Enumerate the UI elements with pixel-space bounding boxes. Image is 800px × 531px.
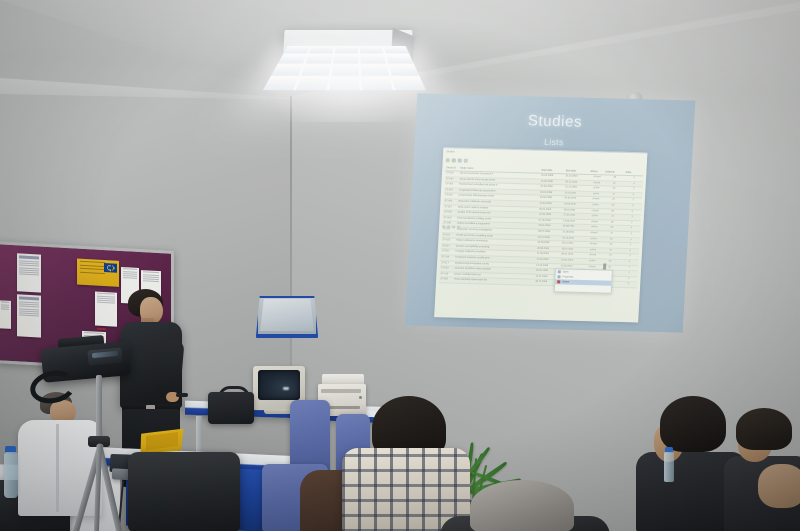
table-cell: active bbox=[587, 203, 602, 208]
table-cell: 15.02.2009 bbox=[540, 179, 565, 184]
table-cell: 3 bbox=[624, 176, 643, 181]
notice-sheet bbox=[17, 253, 41, 292]
table-cell: ST-001 bbox=[445, 171, 459, 176]
table-cell: 23.06.2009 bbox=[537, 224, 562, 229]
table-cell: 20.04.2009 bbox=[538, 202, 563, 207]
app-toolbar bbox=[446, 157, 486, 163]
edit-icon bbox=[452, 158, 456, 162]
table-cell: active bbox=[588, 192, 603, 197]
table-cell: 4 bbox=[624, 181, 643, 186]
room-scene: Studies Lists Studies Study IDStudy name… bbox=[0, 0, 800, 531]
table-cell: 3 bbox=[620, 254, 639, 259]
table-cell: closed bbox=[586, 220, 601, 225]
table-cell: 5 bbox=[620, 249, 639, 254]
table-cell: 18.12.2011 bbox=[560, 247, 585, 252]
light-louvre-cell bbox=[283, 46, 310, 54]
menu-item-icon bbox=[557, 280, 560, 283]
table-cell: 54 bbox=[602, 203, 623, 208]
table-cell: 29 bbox=[602, 198, 623, 203]
pager-last-icon bbox=[457, 226, 460, 229]
cabinet-base-rail bbox=[256, 334, 318, 338]
table-cell: 02.08.2011 bbox=[562, 225, 587, 230]
printer-status-led bbox=[359, 396, 362, 399]
table-cell: 35 bbox=[603, 187, 624, 192]
table-cell: ST-005 bbox=[444, 194, 458, 199]
monitor-screen bbox=[258, 370, 300, 400]
table-cell: 02.02.2011 bbox=[563, 197, 588, 202]
table-cell: 44 bbox=[599, 254, 620, 259]
light-louvre-cell bbox=[383, 46, 409, 54]
eu-programme-poster bbox=[77, 259, 119, 287]
slide-title: Studies bbox=[416, 109, 695, 133]
table-cell: 2 bbox=[623, 198, 642, 203]
attendee-torso bbox=[18, 420, 102, 516]
light-louvre-grid bbox=[263, 46, 426, 90]
shirt-placket bbox=[56, 424, 59, 512]
table-cell: closed bbox=[589, 181, 604, 186]
table-cell: 7 bbox=[619, 265, 638, 270]
attendee-hair bbox=[736, 408, 792, 450]
table-cell: 4 bbox=[621, 226, 640, 231]
eu-flag-icon bbox=[104, 263, 117, 273]
tripod-column bbox=[96, 375, 102, 441]
table-cell: ST-007 bbox=[443, 205, 457, 210]
table-cell: 04.04.2009 bbox=[539, 196, 564, 201]
table-cell: 08.04.2011 bbox=[563, 208, 588, 213]
table-cell: 29.11.2011 bbox=[561, 241, 586, 246]
table-cell: active bbox=[586, 236, 601, 241]
table-cell: ST-017 bbox=[440, 261, 454, 266]
table-cell: 26.08.2009 bbox=[536, 246, 561, 251]
table-cell: 18.03.2009 bbox=[539, 190, 564, 195]
table-cell: 21.12.2010 bbox=[564, 186, 589, 191]
context-menu: OpenPropertiesDelete bbox=[554, 268, 613, 294]
table-cell: 22.05.2009 bbox=[538, 213, 563, 218]
table-cell: ST-008 bbox=[443, 210, 457, 215]
table-column-header: Status bbox=[589, 169, 604, 174]
cabinet-glass bbox=[260, 299, 314, 331]
water-bottle-left bbox=[4, 452, 18, 498]
notice-sheet bbox=[95, 292, 117, 327]
table-cell: active bbox=[588, 186, 603, 191]
filter-icon bbox=[458, 158, 462, 162]
light-louvre-cell bbox=[360, 55, 386, 64]
pager-first-icon bbox=[442, 225, 445, 228]
table-cell: ST-015 bbox=[441, 250, 455, 255]
table-column-header: End date bbox=[565, 168, 590, 174]
table-cell: ST-020 bbox=[439, 277, 453, 282]
light-louvre-cell bbox=[388, 65, 419, 76]
light-louvre-cell bbox=[331, 65, 359, 76]
table-cell: 30.11.2010 bbox=[564, 180, 589, 185]
light-louvre-cell bbox=[334, 46, 358, 54]
table-cell: 5 bbox=[618, 282, 637, 287]
table-cell: ST-002 bbox=[445, 177, 459, 182]
table-cell: 33 bbox=[600, 242, 621, 247]
context-menu-item: Delete bbox=[555, 279, 611, 285]
table-cell: 27.09.2009 bbox=[535, 258, 560, 263]
attendee-hair bbox=[660, 396, 726, 452]
light-louvre-cell bbox=[359, 46, 383, 54]
table-cell: 38 bbox=[601, 220, 622, 225]
red-marker-strip bbox=[97, 328, 106, 330]
table-cell: 19.03.2011 bbox=[563, 202, 588, 207]
table-cell: closed bbox=[585, 253, 600, 258]
table-cell: closed bbox=[587, 209, 602, 214]
table-cell: 27.05.2011 bbox=[562, 213, 587, 218]
table-cell: 52 bbox=[600, 237, 621, 242]
mouse-cursor-icon bbox=[603, 263, 606, 269]
chair-backrest bbox=[290, 400, 330, 474]
table-cell: 3 bbox=[623, 204, 642, 209]
export-icon bbox=[464, 158, 468, 162]
light-louvre-cell bbox=[271, 65, 303, 76]
table-cell: ST-006 bbox=[443, 199, 457, 204]
table-cell: 14.01.2011 bbox=[564, 191, 589, 196]
table-cell: 06.01.2012 bbox=[560, 253, 585, 258]
table-cell: 2 bbox=[624, 187, 643, 192]
menu-item-icon bbox=[557, 275, 560, 278]
projection-screen: Studies Lists Studies Study IDStudy name… bbox=[405, 93, 696, 332]
table-cell: 2 bbox=[621, 243, 640, 248]
table-cell: ST-009 bbox=[442, 216, 456, 221]
table-cell: 41 bbox=[602, 215, 623, 220]
add-icon bbox=[446, 158, 450, 162]
table-column-header: Study ID bbox=[445, 165, 459, 170]
table-cell: 58 bbox=[599, 259, 620, 264]
table-cell: ST-012 bbox=[442, 233, 456, 238]
table-cell: 06.05.2009 bbox=[538, 207, 563, 212]
ceiling-light-fixture bbox=[281, 30, 412, 90]
light-louvre-cell bbox=[361, 77, 393, 90]
light-louvre-cell bbox=[386, 55, 414, 64]
light-louvre-cell bbox=[361, 65, 390, 76]
table-cell: ST-003 bbox=[444, 182, 458, 187]
table-cell: 01.02.2009 bbox=[540, 174, 565, 179]
chair-black-front-left bbox=[128, 452, 240, 531]
table-cell: 3 bbox=[621, 232, 640, 237]
table-cell: 31.10.2010 bbox=[564, 174, 589, 179]
table-cell: 25.07.2009 bbox=[537, 235, 562, 240]
table-cell: 13.06.2011 bbox=[562, 219, 587, 224]
table-cell: 09.07.2009 bbox=[537, 230, 562, 235]
light-louvre-cell bbox=[301, 65, 331, 76]
table-cell: 10.08.2009 bbox=[536, 241, 561, 246]
table-cell: 3 bbox=[619, 277, 638, 282]
table-cell: active bbox=[584, 259, 599, 264]
eu-star bbox=[112, 270, 113, 271]
pager-prev-icon bbox=[447, 225, 450, 228]
table-cell: 6 bbox=[622, 209, 641, 214]
table-column-header: Sites bbox=[625, 170, 644, 175]
table-cell: 21.09.2011 bbox=[561, 230, 586, 235]
shoulder-bag bbox=[208, 392, 254, 424]
table-cell: 71 bbox=[603, 192, 624, 197]
light-louvre-cell bbox=[305, 55, 332, 64]
printer-paper-tray bbox=[321, 389, 361, 393]
water-bottle-right bbox=[664, 452, 674, 482]
table-cell: 07.06.2009 bbox=[537, 218, 562, 223]
table-column-header: Subjects bbox=[604, 169, 625, 175]
table-cell: closed bbox=[588, 197, 603, 202]
table-cell: 48 bbox=[604, 175, 625, 180]
attendee-right-3-head bbox=[758, 464, 800, 508]
table-cell: Post-marketing observation list bbox=[453, 278, 535, 285]
notice-sheet bbox=[0, 300, 11, 329]
app-window-label: Studies bbox=[446, 150, 455, 153]
light-louvre-cell bbox=[333, 55, 359, 64]
table-cell: 62 bbox=[603, 181, 624, 186]
light-louvre-cell bbox=[309, 46, 334, 54]
monitor-reflection bbox=[283, 387, 289, 390]
table-cell: closed bbox=[589, 175, 604, 180]
table-cell: ST-018 bbox=[440, 266, 454, 271]
table-cell: closed bbox=[585, 242, 600, 247]
table-cell: 47 bbox=[601, 231, 622, 236]
table-cell: ST-013 bbox=[441, 238, 455, 243]
eu-star bbox=[113, 269, 114, 270]
light-louvre-cell bbox=[278, 55, 307, 64]
table-cell: closed bbox=[586, 231, 601, 236]
table-cell: active bbox=[587, 214, 602, 219]
attendee-grey-head bbox=[470, 480, 574, 531]
table-cell: ST-014 bbox=[441, 244, 455, 249]
table-cell: 2 bbox=[619, 271, 638, 276]
table-cell: 4 bbox=[620, 260, 639, 265]
light-louvre-cell bbox=[329, 77, 360, 90]
table-cell: 02.03.2009 bbox=[539, 185, 564, 190]
projected-app-window: Studies Study IDStudy nameStart dateEnd … bbox=[434, 147, 647, 322]
table-cell: 11.09.2009 bbox=[536, 252, 561, 257]
light-louvre-cell bbox=[296, 77, 329, 90]
table-cell: 5 bbox=[623, 193, 642, 198]
notice-sheet bbox=[17, 294, 41, 337]
wall-cabinet bbox=[256, 296, 318, 336]
light-louvre-cell bbox=[263, 77, 299, 90]
pager-next-icon bbox=[452, 225, 455, 228]
presentation-remote bbox=[176, 393, 188, 397]
table-cell: 10.10.2011 bbox=[561, 236, 586, 241]
light-louvre-cell bbox=[392, 77, 426, 90]
table-cell: ST-019 bbox=[439, 272, 453, 277]
table-cell: 75 bbox=[600, 248, 621, 253]
table-cell: active bbox=[585, 248, 600, 253]
table-cell: 3 bbox=[622, 215, 641, 220]
table-cell: ST-004 bbox=[444, 188, 458, 193]
table-cell: 2 bbox=[622, 221, 641, 226]
table-column-header: Start date bbox=[540, 168, 565, 174]
table-cell: 25.02.2012 bbox=[560, 258, 585, 263]
table-cell: active bbox=[586, 225, 601, 230]
table-cell: 4 bbox=[621, 237, 640, 242]
menu-item-icon bbox=[558, 270, 561, 273]
table-cell: 83 bbox=[602, 209, 623, 214]
table-cell: ST-016 bbox=[440, 255, 454, 260]
table-cell: 66 bbox=[601, 226, 622, 231]
eu-star bbox=[108, 265, 109, 266]
